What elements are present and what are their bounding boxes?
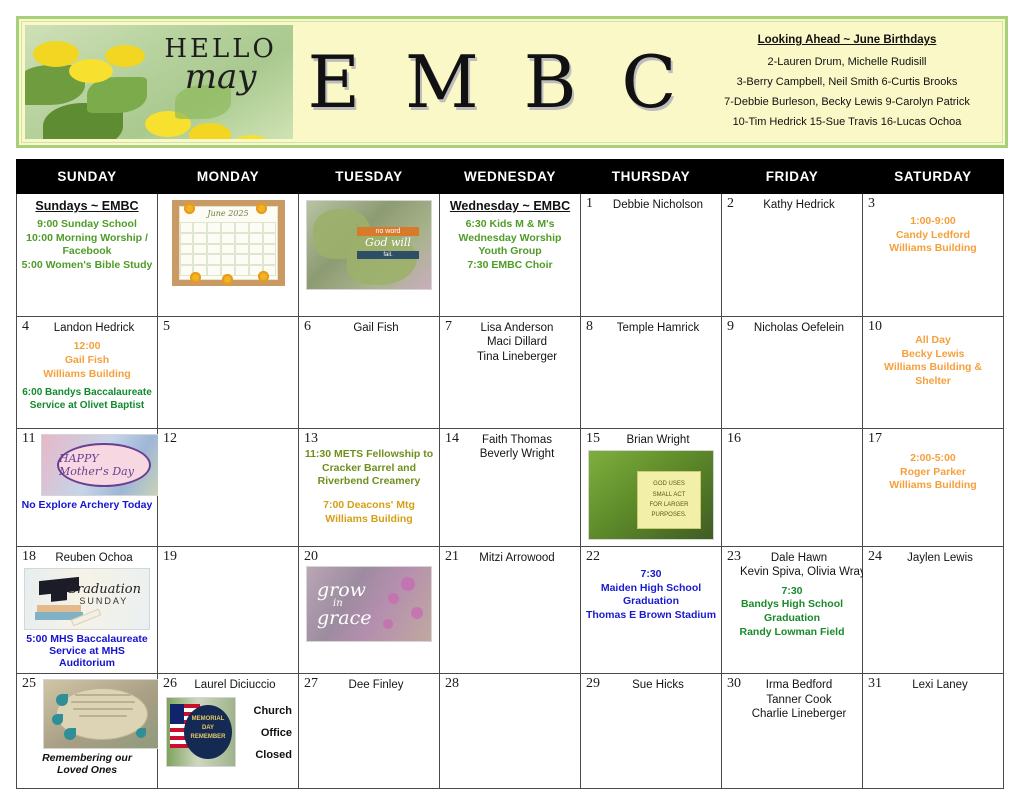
day-number: 10 [868,319,882,335]
fern-line: GOD USES [638,479,700,489]
cell-day-25[interactable]: 25 [17,674,158,789]
event-line: 7:00 Deacons' Mtg [303,499,435,513]
fern-line: FOR LARGER [638,500,700,510]
day-number: 14 [445,431,459,447]
graduation-sunday-image: Graduation SUNDAY [24,568,150,630]
sundays-title: Sundays ~ EMBC [21,199,153,213]
mothers-day-image: HAPPY Mother's Day [41,434,167,496]
cell-day-18[interactable]: 18 Reuben Ochoa Graduation SUNDAY [17,547,158,674]
event-line: 2:00-5:00 [867,452,999,466]
name-entry: Debbie Nicholson [599,198,717,212]
day-number: 16 [727,431,741,447]
birthday-line: 7-Debbie Burleson, Becky Lewis 9-Carolyn… [702,96,992,108]
day-names: Brian Wright [585,432,717,447]
day-number: 29 [586,676,600,692]
name-entry: Kevin Spiva, Olivia Wray [740,565,858,579]
name-entry: Lexi Laney [881,678,999,692]
day-event-secondary: 6:00 Bandys Baccalaureate Service at Oli… [21,386,153,412]
fern-line: SMALL ACT [638,490,700,500]
day-names: Jaylen Lewis [867,550,999,565]
event-line: Graduation [726,612,858,626]
event-line: Williams Building [21,368,153,382]
calendar-week-2: 4 Landon Hedrick 12:00 Gail Fish William… [17,317,1004,429]
name-entry: Landon Hedrick [35,321,153,335]
calendar-week-4: 18 Reuben Ochoa Graduation SUNDAY [17,547,1004,674]
cell-day-31[interactable]: 31 Lexi Laney [863,674,1004,789]
sundays-schedule: 9:00 Sunday School 10:00 Morning Worship… [21,218,153,273]
office-closed-note: Church Office Closed [254,700,293,766]
day-names: Debbie Nicholson [585,197,717,212]
day-number: 30 [727,676,741,692]
name-entry: Maci Dillard [458,335,576,349]
cell-day-27[interactable]: 27 Dee Finley [299,674,440,789]
graduation-line: Graduation [67,583,141,596]
memorial-line: MEMORIAL [184,715,232,724]
day-number: 22 [586,549,600,565]
name-entry: Nicholas Oefelein [740,321,858,335]
day-names: Reuben Ochoa [21,550,153,565]
day-number: 17 [868,431,882,447]
event-line: 11:30 METS Fellowship to [303,448,435,462]
memorial-line: DAY [184,724,232,733]
wednesday-line: Wednesday Worship [444,232,576,246]
day-names: Nicholas Oefelein [726,320,858,335]
cell-day-17[interactable]: 17 2:00-5:00 Roger Parker Williams Build… [863,429,1004,547]
event-line: Becky Lewis [867,348,999,362]
sunday-line: Facebook [21,245,153,259]
sunday-line: 10:00 Morning Worship / [21,232,153,246]
day-number: 28 [445,676,459,692]
caption-line: Remembering our [21,752,153,764]
name-entry: Gail Fish [317,321,435,335]
day-event: 12:00 Gail Fish Williams Building [21,340,153,381]
memorial-day-text: MEMORIAL DAY REMEMBER [184,705,232,759]
header-banner: HELLO may E M B C Looking Ahead ~ June B… [16,16,1008,148]
calendar-page: HELLO may E M B C Looking Ahead ~ June B… [0,0,1024,791]
day-event: 7:30 Maiden High School Graduation Thoma… [585,568,717,623]
name-entry: Brian Wright [599,433,717,447]
cell-day-4[interactable]: 4 Landon Hedrick 12:00 Gail Fish William… [17,317,158,429]
grow-line: grow [317,581,371,599]
cell-day-16[interactable]: 16 [722,429,863,547]
grow-in-grace-image: grow in grace [306,566,432,642]
cell-day-6[interactable]: 6 Gail Fish [299,317,440,429]
name-entry: Lisa Anderson [458,321,576,335]
event-line: Williams Building & [867,361,999,375]
day-names: Temple Hamrick [585,320,717,335]
day-number: 3 [868,196,875,212]
june-calendar-image: June 2025 [172,200,285,286]
caption-line: Loved Ones [21,764,153,776]
memorial-line: REMEMBER [184,733,232,742]
caption-line: 5:00 MHS Baccalaureate [21,633,153,645]
name-entry: Tina Lineberger [458,350,576,364]
event-line: Graduation [585,595,717,609]
day-names: Landon Hedrick [21,320,153,335]
day-number: 19 [163,549,177,565]
day-number: 9 [727,319,734,335]
name-entry: Beverly Wright [458,447,576,461]
event-line: Thomas E Brown Stadium [585,609,717,623]
cell-day-23[interactable]: 23 Dale Hawn Kevin Spiva, Olivia Wray 7:… [722,547,863,674]
day-names: Dee Finley [303,677,435,692]
cell-day-22[interactable]: 22 7:30 Maiden High School Graduation Th… [581,547,722,674]
event-line: Gail Fish [21,354,153,368]
day-event: 2:00-5:00 Roger Parker Williams Building [867,452,999,493]
banner-title: E M B C [293,22,702,142]
day-number: 21 [445,549,459,565]
graduation-line: SUNDAY [67,596,141,606]
calendar-week-3: 11 HAPPY Mother's Day No Explore Archery… [17,429,1004,547]
cell-day-12[interactable]: 12 [158,429,299,547]
calendar-grid: SUNDAY MONDAY TUESDAY WEDNESDAY THURSDAY… [16,159,1004,789]
weekday-thursday: THURSDAY [581,160,722,194]
sunday-line: 9:00 Sunday School [21,218,153,232]
event-line: Cracker Barrel and [303,462,435,476]
cell-day-1[interactable]: 1 Debbie Nicholson [581,194,722,317]
banner-inner: HELLO may E M B C Looking Ahead ~ June B… [21,21,1003,143]
day-number: 5 [163,319,170,335]
day-number: 1 [586,196,593,212]
day-names: Irma Bedford Tanner Cook Charlie Lineber… [726,677,858,721]
note-line: Church [254,700,293,722]
birthday-line: 3-Berry Campbell, Neil Smith 6-Curtis Br… [702,76,992,88]
day-number: 11 [22,431,35,447]
cell-day-13[interactable]: 13 11:30 METS Fellowship to Cracker Barr… [299,429,440,547]
cell-wednesday-info[interactable]: Wednesday ~ EMBC 6:30 Kids M & M's Wedne… [440,194,581,317]
cell-day-30[interactable]: 30 Irma Bedford Tanner Cook Charlie Line… [722,674,863,789]
day-event: 11:30 METS Fellowship to Cracker Barrel … [303,448,435,489]
event-line: 1:00-9:00 [867,215,999,229]
name-entry: Faith Thomas [458,433,576,447]
event-line: 7:30 [726,585,858,599]
day-names: Faith Thomas Beverly Wright [444,432,576,462]
name-entry: Dee Finley [317,678,435,692]
weekday-wednesday: WEDNESDAY [440,160,581,194]
day-number: 18 [22,549,36,565]
day-number: 27 [304,676,318,692]
event-line: 7:30 [585,568,717,582]
cell-day-9[interactable]: 9 Nicholas Oefelein [722,317,863,429]
day-names: Dale Hawn Kevin Spiva, Olivia Wray [726,550,858,580]
cell-day-26[interactable]: 26 Laurel Diciuccio MEMORIAL DAY REMEMBE… [158,674,299,789]
mothers-day-text: HAPPY Mother's Day [59,452,149,478]
memorial-stone-image [43,679,161,749]
wednesday-line: 7:30 EMBC Choir [444,259,576,273]
wednesday-line: 6:30 Kids M & M's [444,218,576,232]
weekday-tuesday: TUESDAY [299,160,440,194]
fern-line: PURPOSES. [638,510,700,520]
day-number: 12 [163,431,177,447]
event-line: Maiden High School [585,582,717,596]
sunday-line: 5:00 Women's Bible Study [21,259,153,273]
day-number: 7 [445,319,452,335]
event-line: Roger Parker [867,466,999,480]
cell-day-10[interactable]: 10 All Day Becky Lewis Williams Building… [863,317,1004,429]
calendar-week-1: Sundays ~ EMBC 9:00 Sunday School 10:00 … [17,194,1004,317]
no-word-line: no word [357,227,419,236]
note-line: Closed [254,744,293,766]
fern-card-text: GOD USES SMALL ACT FOR LARGER PURPOSES. [637,471,701,529]
name-entry: Temple Hamrick [599,321,717,335]
day-names: Mitzi Arrowood [444,550,576,565]
weekday-saturday: SATURDAY [863,160,1004,194]
event-line: Candy Ledford [867,229,999,243]
calendar-week-5: 25 [17,674,1004,789]
cell-tuesday-image[interactable]: no word God will fail. [299,194,440,317]
name-entry: Charlie Lineberger [740,707,858,721]
day-number: 31 [868,676,882,692]
weekday-sunday: SUNDAY [17,160,158,194]
name-entry: Tanner Cook [740,693,858,707]
day-number: 20 [304,549,318,565]
day-names: Kathy Hedrick [726,197,858,212]
name-entry: Sue Hicks [599,678,717,692]
day-number: 24 [868,549,882,565]
weekday-monday: MONDAY [158,160,299,194]
no-word-text: no word God will fail. [357,227,419,259]
day-names: Lexi Laney [867,677,999,692]
day-number: 8 [586,319,593,335]
weekday-header-row: SUNDAY MONDAY TUESDAY WEDNESDAY THURSDAY… [17,160,1004,194]
event-line: Williams Building [867,479,999,493]
wednesday-schedule: 6:30 Kids M & M's Wednesday Worship Yout… [444,218,576,273]
cell-day-19[interactable]: 19 [158,547,299,674]
name-entry: Laurel Diciuccio [176,678,294,692]
name-entry: Kathy Hedrick [740,198,858,212]
event-line: Service at Olivet Baptist [21,399,153,412]
event-line: 12:00 [21,340,153,354]
day-names: Lisa Anderson Maci Dillard Tina Lineberg… [444,320,576,364]
day-number: 13 [304,431,318,447]
day-event-secondary: 7:00 Deacons' Mtg Williams Building [303,499,435,526]
cell-day-2[interactable]: 2 Kathy Hedrick [722,194,863,317]
wednesday-line: Youth Group [444,245,576,259]
cell-day-20[interactable]: 20 grow in grace [299,547,440,674]
cell-day-29[interactable]: 29 Sue Hicks [581,674,722,789]
no-word-line: God will [357,236,419,249]
cell-day-24[interactable]: 24 Jaylen Lewis [863,547,1004,674]
cell-day-3[interactable]: 3 1:00-9:00 Candy Ledford Williams Build… [863,194,1004,317]
hello-line-2: may [164,60,277,94]
day-caption: No Explore Archery Today [21,499,153,511]
event-line: Williams Building [867,242,999,256]
day-names: Gail Fish [303,320,435,335]
memorial-day-image: MEMORIAL DAY REMEMBER [166,697,236,767]
cell-monday-image[interactable]: June 2025 [158,194,299,317]
day-number: 6 [304,319,311,335]
cell-day-28[interactable]: 28 [440,674,581,789]
graduation-image-text: Graduation SUNDAY [67,583,141,606]
event-line: All Day [867,334,999,348]
weekday-friday: FRIDAY [722,160,863,194]
event-line: 6:00 Bandys Baccalaureate [21,386,153,399]
day-number: 26 [163,676,177,692]
cell-day-7[interactable]: 7 Lisa Anderson Maci Dillard Tina Linebe… [440,317,581,429]
day-names: Laurel Diciuccio [162,677,294,692]
birthdays-panel: Looking Ahead ~ June Birthdays 2-Lauren … [702,22,1002,142]
grow-in-grace-text: grow in grace [317,581,371,627]
cell-day-5[interactable]: 5 [158,317,299,429]
name-entry: Dale Hawn [740,551,858,565]
day-number: 15 [586,431,600,447]
no-word-from-god-image: no word God will fail. [306,200,432,290]
day-names: Sue Hicks [585,677,717,692]
day-event: 1:00-9:00 Candy Ledford Williams Buildin… [867,215,999,256]
day-number: 4 [22,319,29,335]
day-event: All Day Becky Lewis Williams Building & … [867,334,999,389]
birthday-line: 10-Tim Hedrick 15-Sue Travis 16-Lucas Oc… [702,116,992,128]
note-line: Office [254,722,293,744]
grow-line: grace [317,609,371,627]
name-entry: Irma Bedford [740,678,858,692]
birthdays-title: Looking Ahead ~ June Birthdays [702,34,992,46]
day-number: 23 [727,549,741,565]
event-line: Bandys High School [726,598,858,612]
day-number: 25 [22,676,36,692]
god-uses-small-acts-image: GOD USES SMALL ACT FOR LARGER PURPOSES. [588,450,714,540]
wednesday-title: Wednesday ~ EMBC [444,199,576,213]
cell-sunday-info[interactable]: Sundays ~ EMBC 9:00 Sunday School 10:00 … [17,194,158,317]
church-title: E M B C [308,40,688,124]
cell-day-8[interactable]: 8 Temple Hamrick [581,317,722,429]
caption-line: Service at MHS Auditorium [21,645,153,669]
name-entry: Mitzi Arrowood [458,551,576,565]
hello-may-image: HELLO may [25,25,293,139]
name-entry: Reuben Ochoa [35,551,153,565]
cell-day-11[interactable]: 11 HAPPY Mother's Day No Explore Archery… [17,429,158,547]
hello-may-text: HELLO may [164,36,277,94]
no-word-line: fail. [357,251,419,259]
event-line: Randy Lowman Field [726,626,858,640]
event-line: Williams Building [303,513,435,527]
day-caption: 5:00 MHS Baccalaureate Service at MHS Au… [21,633,153,669]
cell-day-14[interactable]: 14 Faith Thomas Beverly Wright [440,429,581,547]
day-event: 7:30 Bandys High School Graduation Randy… [726,585,858,640]
name-entry: Jaylen Lewis [881,551,999,565]
cell-day-21[interactable]: 21 Mitzi Arrowood [440,547,581,674]
event-line: Shelter [867,375,999,389]
cell-day-15[interactable]: 15 Brian Wright GOD USES SMALL ACT FOR L… [581,429,722,547]
day-number: 2 [727,196,734,212]
day-caption: Remembering our Loved Ones [21,752,153,776]
birthday-line: 2-Lauren Drum, Michelle Rudisill [702,56,992,68]
event-line: Riverbend Creamery [303,475,435,489]
